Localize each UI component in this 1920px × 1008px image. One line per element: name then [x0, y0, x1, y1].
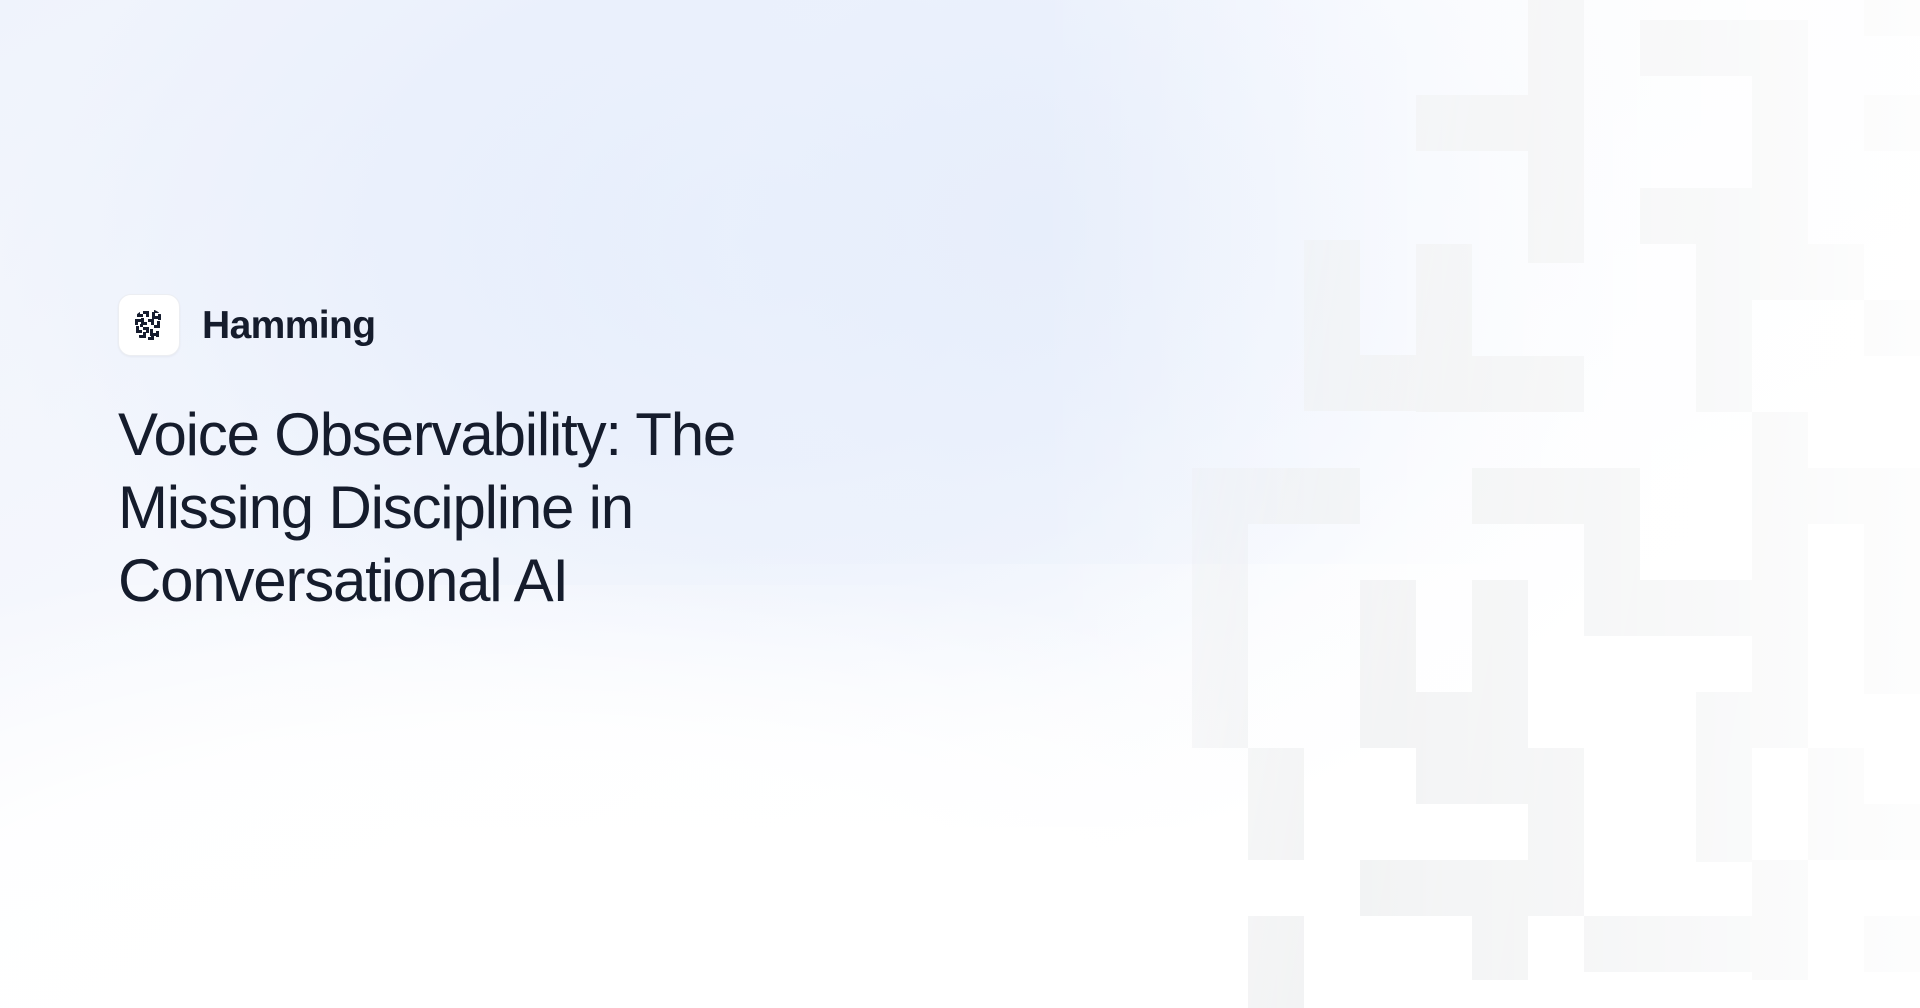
hamming-maze-logo-icon [131, 307, 167, 343]
brand-row: Hamming [118, 294, 376, 356]
background-right-fade [1037, 0, 1920, 1008]
page-title: Voice Observability: The Missing Discipl… [118, 398, 918, 618]
cover-content: Hamming Voice Observability: The Missing… [118, 0, 1018, 1008]
hamming-logo-card [118, 294, 180, 356]
brand-name: Hamming [202, 306, 376, 345]
og-cover-canvas: Hamming Voice Observability: The Missing… [0, 0, 1920, 1008]
